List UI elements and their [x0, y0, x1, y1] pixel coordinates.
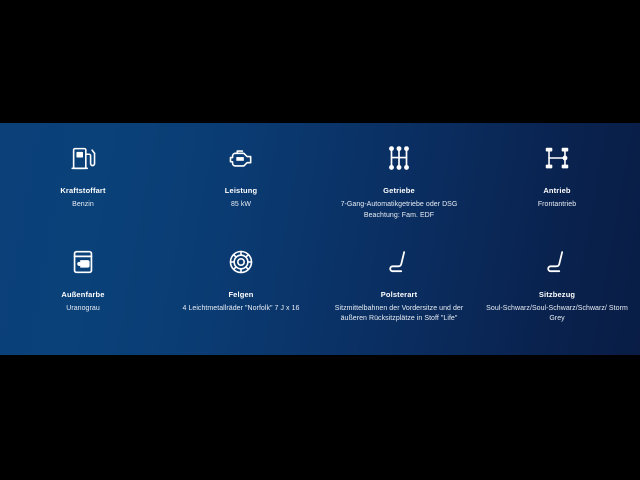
- spec-value: 4 Leichtmetallräder "Norfolk" 7 J x 16: [183, 304, 300, 314]
- spec-label: Sitzbezug: [539, 290, 575, 299]
- spec-label: Polsterart: [381, 290, 418, 299]
- spec-item-polsterart[interactable]: Polsterart Sitzmittelbahnen der Vordersi…: [320, 247, 478, 325]
- spec-label: Außenfarbe: [61, 290, 104, 299]
- spec-item-sitzbezug[interactable]: Sitzbezug Soul-Schwarz/Soul-Schwarz/Schw…: [478, 247, 636, 325]
- paint-can-icon: [68, 247, 98, 277]
- spec-item-kraftstoffart[interactable]: Kraftstoffart Benzin: [4, 143, 162, 221]
- car-seat-icon: [384, 247, 414, 277]
- spec-item-leistung[interactable]: Leistung 85 kW: [162, 143, 320, 221]
- spec-item-aussenfarbe[interactable]: Außenfarbe Uranograu: [4, 247, 162, 325]
- spec-value: Benzin: [72, 200, 94, 210]
- spec-item-felgen[interactable]: Felgen 4 Leichtmetallräder "Norfolk" 7 J…: [162, 247, 320, 325]
- screenshot-root: Kraftstoffart Benzin Leistung 85 kW: [0, 0, 640, 480]
- spec-label: Kraftstoffart: [60, 186, 105, 195]
- spec-label: Leistung: [225, 186, 257, 195]
- spec-item-antrieb[interactable]: Antrieb Frontantrieb: [478, 143, 636, 221]
- spec-value: Soul-Schwarz/Soul-Schwarz/Schwarz/ Storm…: [484, 304, 630, 324]
- spec-label: Antrieb: [543, 186, 570, 195]
- car-seat-icon: [542, 247, 572, 277]
- spec-label: Getriebe: [383, 186, 415, 195]
- spec-row-primary: Kraftstoffart Benzin Leistung 85 kW: [4, 143, 636, 221]
- engine-icon: [226, 143, 256, 173]
- drivetrain-icon: [542, 143, 572, 173]
- spec-value: 7-Gang-Automatikgetriebe oder DSG Beacht…: [326, 200, 472, 220]
- spec-value: 85 kW: [231, 200, 251, 210]
- spec-row-secondary: Außenfarbe Uranograu: [4, 247, 636, 325]
- spec-value: Uranograu: [66, 304, 100, 314]
- spec-item-getriebe[interactable]: Getriebe 7-Gang-Automatikgetriebe oder D…: [320, 143, 478, 221]
- gear-shifter-icon: [384, 143, 414, 173]
- spec-value: Frontantrieb: [538, 200, 576, 210]
- spec-label: Felgen: [228, 290, 253, 299]
- spec-value: Sitzmittelbahnen der Vordersitze und der…: [326, 304, 472, 324]
- alloy-wheel-icon: [226, 247, 256, 277]
- vehicle-spec-panel: Kraftstoffart Benzin Leistung 85 kW: [0, 123, 640, 355]
- fuel-pump-icon: [68, 143, 98, 173]
